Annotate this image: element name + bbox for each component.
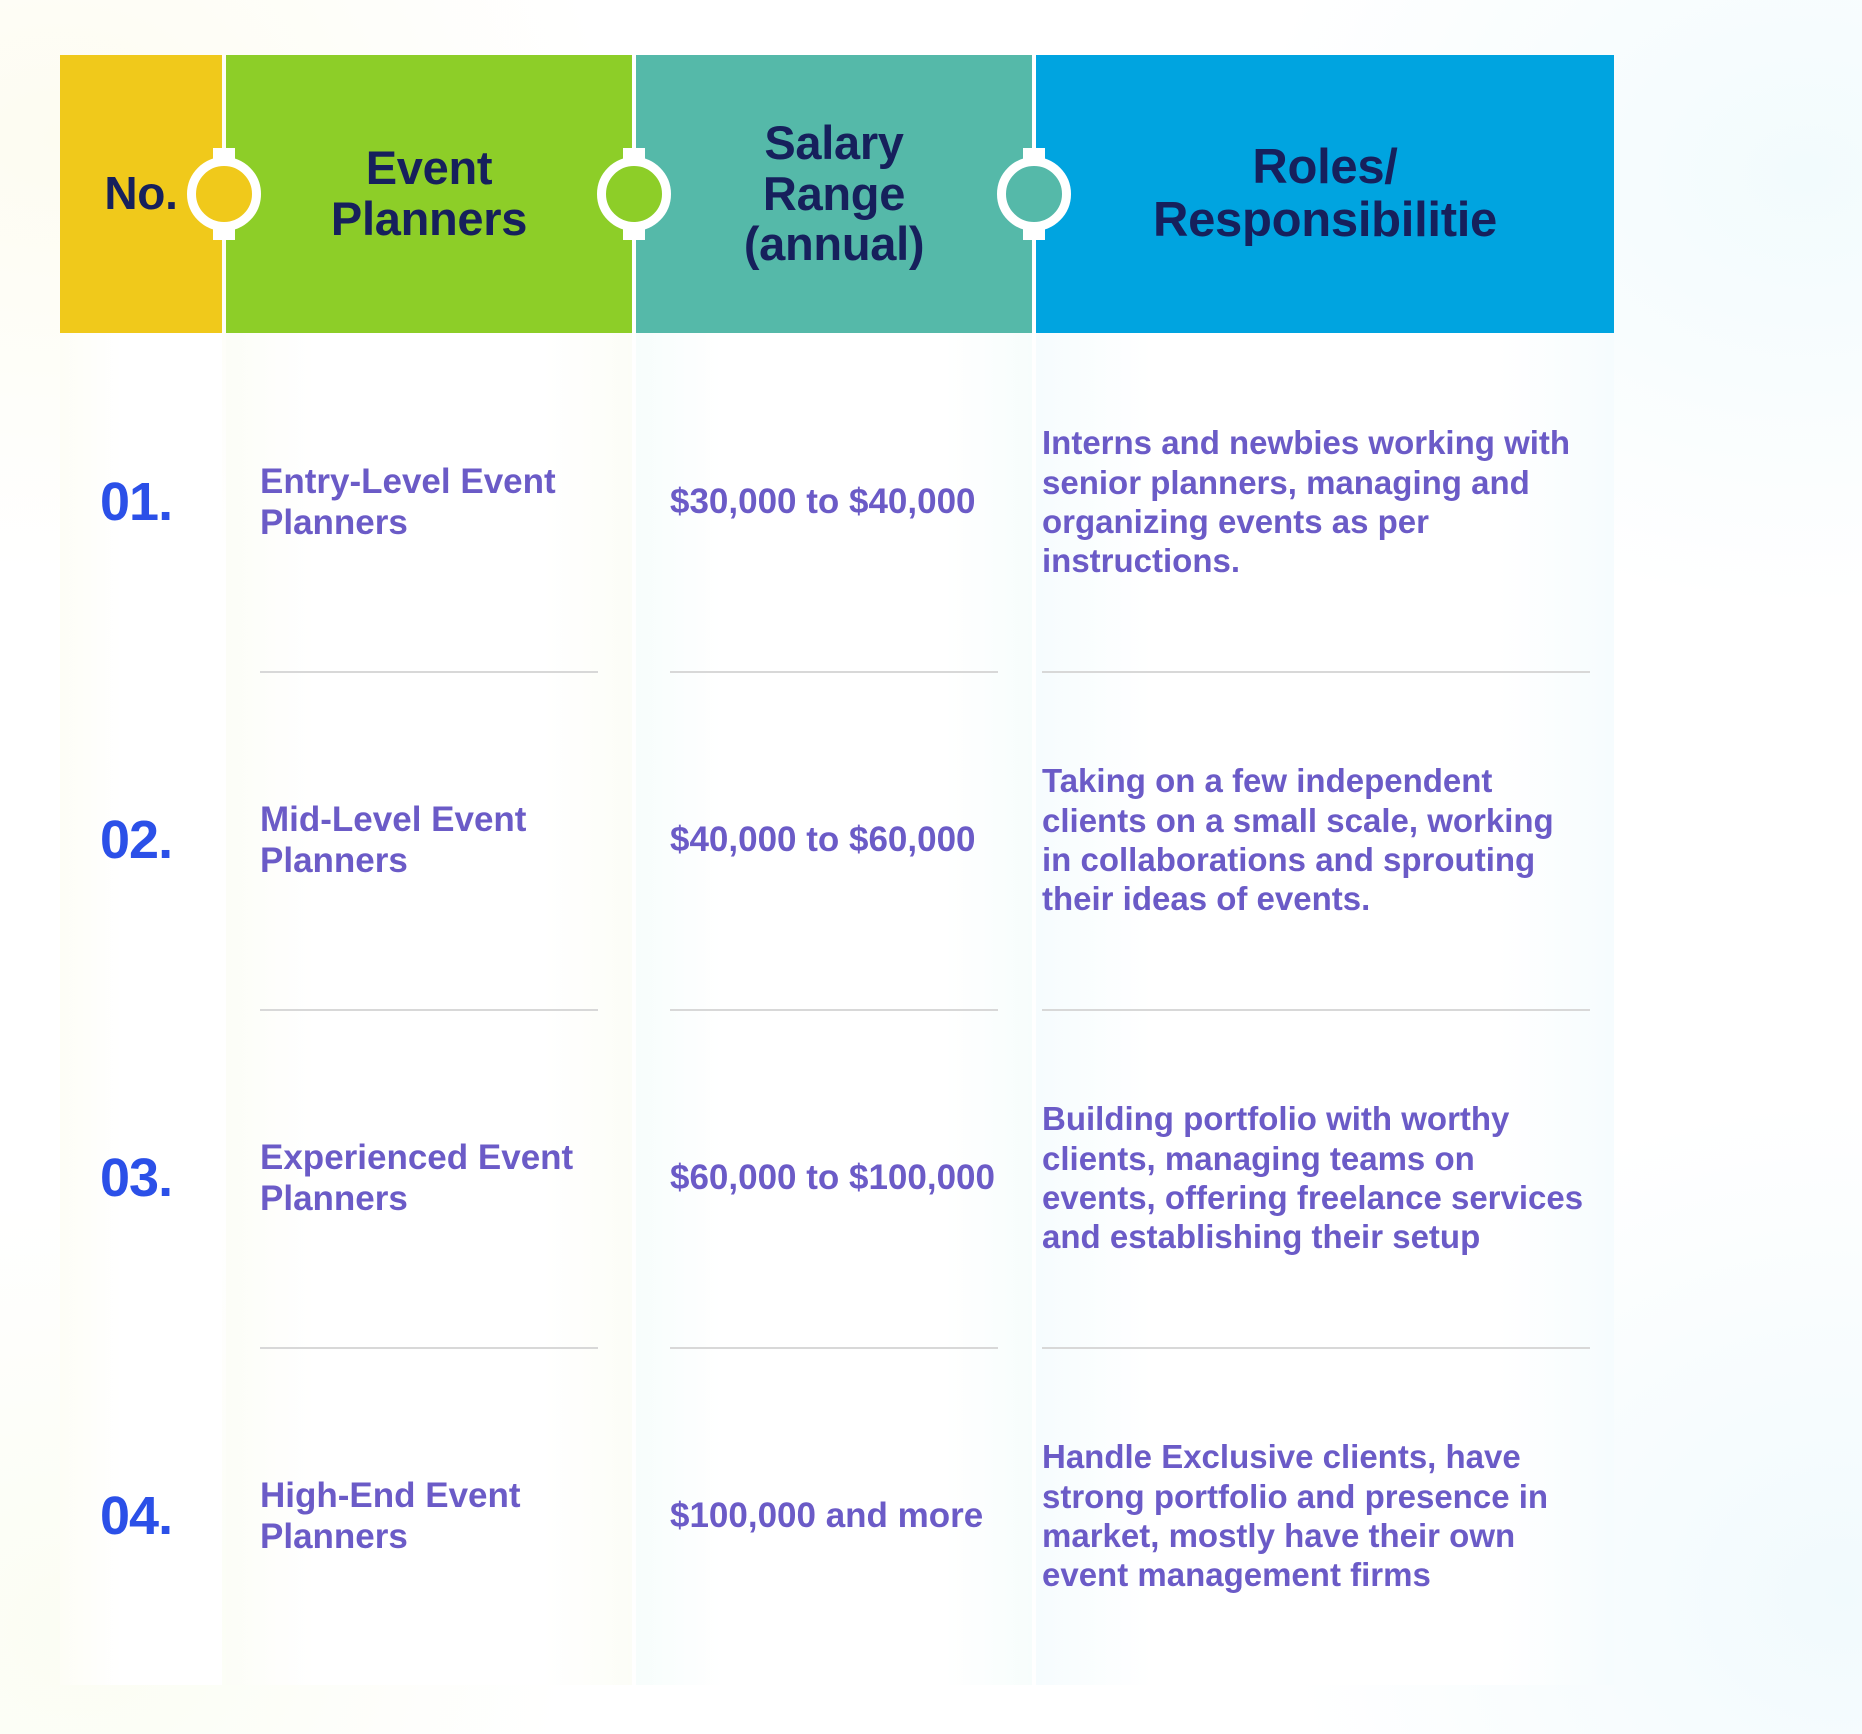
planner-type: Entry-Level Event Planners xyxy=(260,461,610,544)
event-planner-salary-table: No. 01. 02. 03. 04. xyxy=(60,55,1802,1685)
column-body-salary-range: $30,000 to $40,000 $40,000 to $60,000 $6… xyxy=(636,333,1032,1685)
table-row: Experienced Event Planners xyxy=(226,1009,632,1347)
planner-type: High-End Event Planners xyxy=(260,1475,610,1558)
table-row: $30,000 to $40,000 xyxy=(636,333,1032,671)
puzzle-knob-icon xyxy=(597,157,671,231)
table-row: Taking on a few independent clients on a… xyxy=(1036,671,1614,1009)
header-label-salary-range: Salary Range (annual) xyxy=(736,118,932,270)
row-number: 01. xyxy=(100,471,172,533)
header-cell-salary-range: Salary Range (annual) xyxy=(636,55,1032,333)
roles-description: Building portfolio with worthy clients, … xyxy=(1042,1099,1588,1256)
table-row: $60,000 to $100,000 xyxy=(636,1009,1032,1347)
puzzle-knob-icon xyxy=(997,157,1071,231)
row-number: 02. xyxy=(100,809,172,871)
planner-type: Mid-Level Event Planners xyxy=(260,799,610,882)
column-body-event-planners: Entry-Level Event Planners Mid-Level Eve… xyxy=(226,333,632,1685)
planner-type: Experienced Event Planners xyxy=(260,1137,610,1220)
row-number: 03. xyxy=(100,1147,172,1209)
puzzle-knob-icon xyxy=(187,157,261,231)
row-number: 04. xyxy=(100,1485,172,1547)
table-row: 02. xyxy=(60,671,222,1009)
table-row: High-End Event Planners xyxy=(226,1347,632,1685)
table-row: 04. xyxy=(60,1347,222,1685)
table-row: 01. xyxy=(60,333,222,671)
header-line-1: Roles/ xyxy=(1252,140,1397,194)
roles-description: Interns and newbies working with senior … xyxy=(1042,423,1588,580)
salary-value: $40,000 to $60,000 xyxy=(670,819,976,860)
header-cell-roles-responsibilities: Roles/ Responsibilitie xyxy=(1036,55,1614,333)
header-line-1: Salary xyxy=(764,116,903,169)
table-row: Entry-Level Event Planners xyxy=(226,333,632,671)
column-no: No. 01. 02. 03. 04. xyxy=(60,55,222,1685)
table-row: Mid-Level Event Planners xyxy=(226,671,632,1009)
column-roles-responsibilities: Roles/ Responsibilitie Interns and newbi… xyxy=(1036,55,1614,1685)
header-label-roles-responsibilities: Roles/ Responsibilitie xyxy=(1145,141,1505,247)
table-row: 03. xyxy=(60,1009,222,1347)
header-cell-event-planners: Event Planners xyxy=(226,55,632,333)
table-row: Handle Exclusive clients, have strong po… xyxy=(1036,1347,1614,1685)
header-line-2: Planners xyxy=(331,192,527,245)
header-label-event-planners: Event Planners xyxy=(323,143,535,245)
salary-value: $100,000 and more xyxy=(670,1495,983,1536)
header-line-3: (annual) xyxy=(744,217,924,270)
table-row: $40,000 to $60,000 xyxy=(636,671,1032,1009)
header-line-2: Range xyxy=(763,167,905,220)
column-event-planners: Event Planners Entry-Level Event Planner… xyxy=(226,55,632,1685)
salary-value: $60,000 to $100,000 xyxy=(670,1157,995,1198)
roles-description: Taking on a few independent clients on a… xyxy=(1042,761,1588,918)
header-line-2: Responsibilitie xyxy=(1153,193,1497,247)
table-row: Building portfolio with worthy clients, … xyxy=(1036,1009,1614,1347)
roles-description: Handle Exclusive clients, have strong po… xyxy=(1042,1437,1588,1594)
header-label-no: No. xyxy=(96,169,185,219)
column-salary-range: Salary Range (annual) $30,000 to $40,000… xyxy=(636,55,1032,1685)
table-row: Interns and newbies working with senior … xyxy=(1036,333,1614,671)
column-body-no: 01. 02. 03. 04. xyxy=(60,333,222,1685)
column-body-roles-responsibilities: Interns and newbies working with senior … xyxy=(1036,333,1614,1685)
infographic-canvas: No. 01. 02. 03. 04. xyxy=(0,0,1862,1734)
header-line-1: Event xyxy=(366,141,493,194)
table-row: $100,000 and more xyxy=(636,1347,1032,1685)
salary-value: $30,000 to $40,000 xyxy=(670,481,976,522)
